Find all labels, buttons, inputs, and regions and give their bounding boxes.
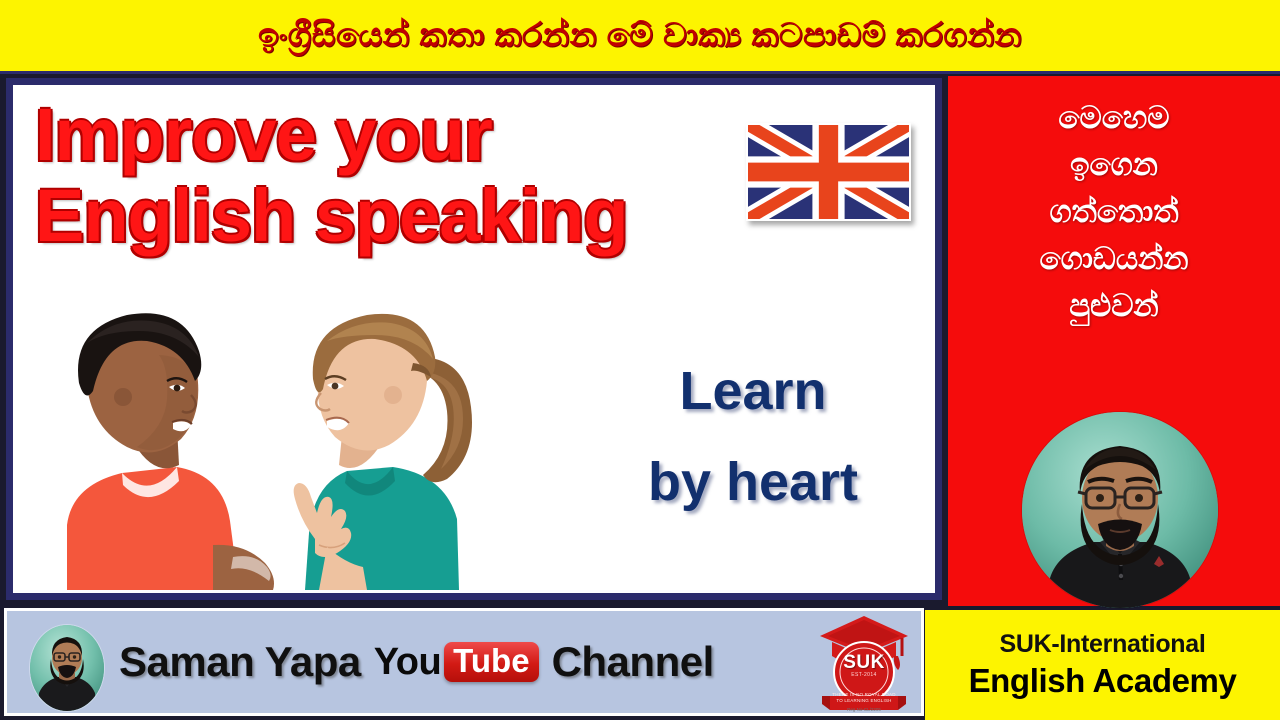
- uk-flag-icon: [746, 123, 911, 221]
- channel-title: Saman Yapa You Tube Channel: [119, 611, 714, 713]
- suk-badge-icon: SUK EST-2014 THERE IS NO ROYAL ROAD TO L…: [812, 612, 916, 716]
- video-thumbnail-canvas: ඉංග්‍රීසියෙන් කතා කරන්න මේ වාක්‍ය කටපාඩම…: [0, 0, 1280, 720]
- channel-owner-name: Saman Yapa: [119, 638, 361, 686]
- headline-line-2: English speaking: [35, 180, 795, 253]
- red-panel-line-3: ගත්තොත්: [948, 188, 1280, 235]
- instructor-portrait: [1022, 412, 1218, 608]
- subtext-line-2: by heart: [573, 454, 933, 511]
- conversation-photo: [27, 295, 497, 590]
- main-content-panel: Improve your English speaking Learn by h…: [6, 78, 942, 600]
- red-panel-text: මෙහෙම ඉගෙන ගත්තොත් ගොඩයන්න පුළුවන්: [948, 94, 1280, 330]
- subtext-block: Learn by heart: [573, 363, 933, 510]
- red-panel-line-5: පුළුවන්: [948, 282, 1280, 329]
- academy-name-line-2: English Academy: [969, 662, 1237, 700]
- red-panel-line-4: ගොඩයන්න: [948, 235, 1280, 282]
- youtube-tube-text: Tube: [444, 642, 538, 683]
- youtube-logo-icon: You Tube: [374, 641, 539, 684]
- academy-name-line-1: SUK-International: [999, 630, 1205, 659]
- red-panel-line-1: මෙහෙම: [948, 94, 1280, 141]
- youtube-you-text: You: [374, 641, 441, 684]
- top-banner: ඉංග්‍රීසියෙන් කතා කරන්න මේ වාක්‍ය කටපාඩම…: [0, 0, 1280, 74]
- academy-panel: SUK-International English Academy: [925, 610, 1280, 720]
- channel-bar: Saman Yapa You Tube Channel: [4, 608, 924, 716]
- top-banner-text: ඉංග්‍රීසියෙන් කතා කරන්න මේ වාක්‍ය කටපාඩම…: [258, 16, 1022, 55]
- suk-established-text: EST-2014: [812, 672, 916, 678]
- headline: Improve your English speaking: [35, 99, 795, 252]
- suk-registration-text: Reg No-CL/2205: [812, 707, 916, 712]
- subtext-line-1: Learn: [573, 363, 933, 420]
- red-panel-line-2: ඉගෙන: [948, 141, 1280, 188]
- suk-seal-text: SUK: [812, 652, 916, 674]
- suk-ribbon-text: THERE IS NO ROYAL ROAD TO LEARNING ENGLI…: [812, 692, 916, 704]
- avatar: [29, 624, 105, 712]
- headline-line-1: Improve your: [35, 99, 795, 172]
- channel-suffix: Channel: [552, 638, 714, 686]
- suk-ribbon-line-2: TO LEARNING ENGLISH: [812, 698, 916, 704]
